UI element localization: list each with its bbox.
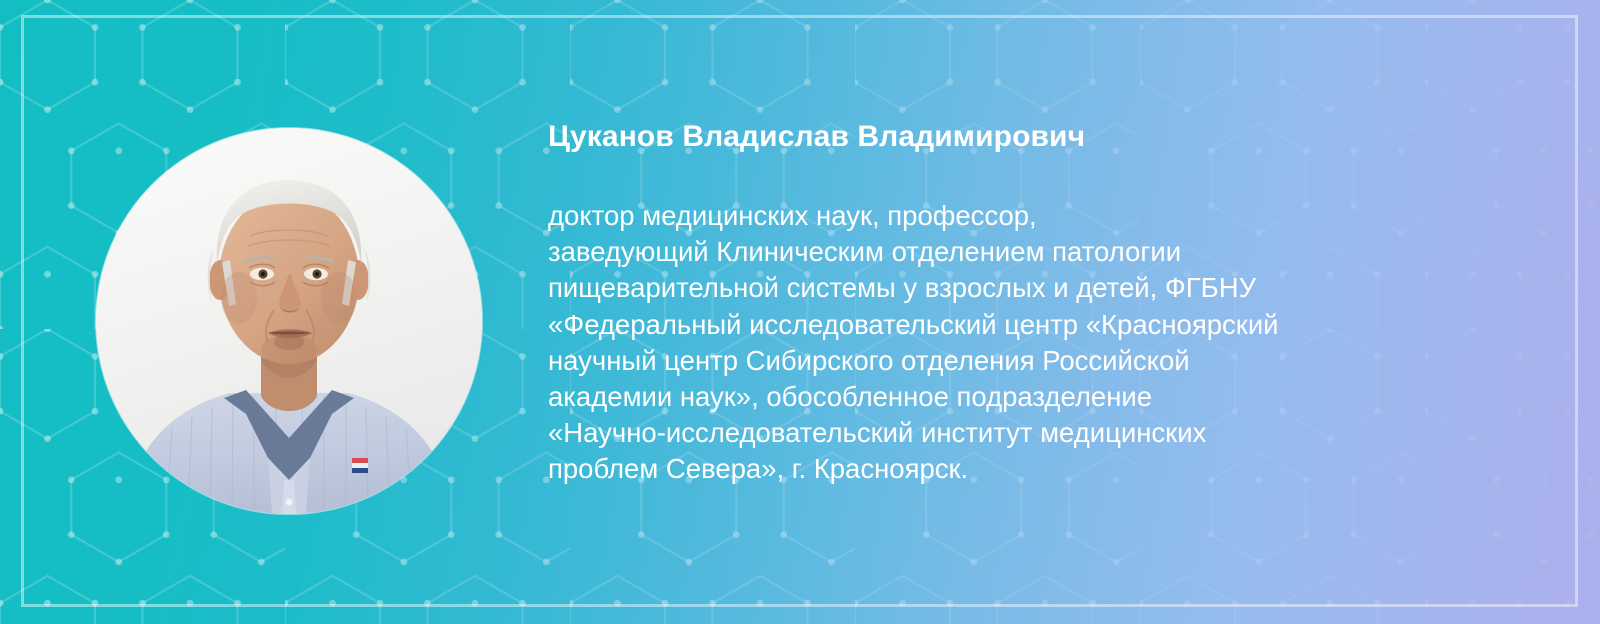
portrait-photo <box>96 128 482 514</box>
speaker-bio-list: доктор медицинских наук, профессор, заве… <box>548 198 1448 488</box>
bio-line: «Научно-исследовательский институт медиц… <box>548 415 1448 451</box>
page-title: Цуканов Владислав Владимирович <box>548 118 1448 156</box>
bio-line: академии наук», обособленное подразделен… <box>548 379 1448 415</box>
bio-line: заведующий Клиническим отделением патоло… <box>548 234 1448 270</box>
bio-line: проблем Севера», г. Красноярск. <box>548 451 1448 487</box>
bio-line: пищеварительной системы у взрослых и дет… <box>548 270 1448 306</box>
bio-line: доктор медицинских наук, профессор, <box>548 198 1448 234</box>
speaker-text-block: Цуканов Владислав Владимирович доктор ме… <box>548 118 1448 488</box>
bio-line: «Федеральный исследовательский центр «Кр… <box>548 307 1448 343</box>
speaker-intro-slide: Цуканов Владислав Владимирович доктор ме… <box>0 0 1600 624</box>
bio-line: научный центр Сибирского отделения Росси… <box>548 343 1448 379</box>
